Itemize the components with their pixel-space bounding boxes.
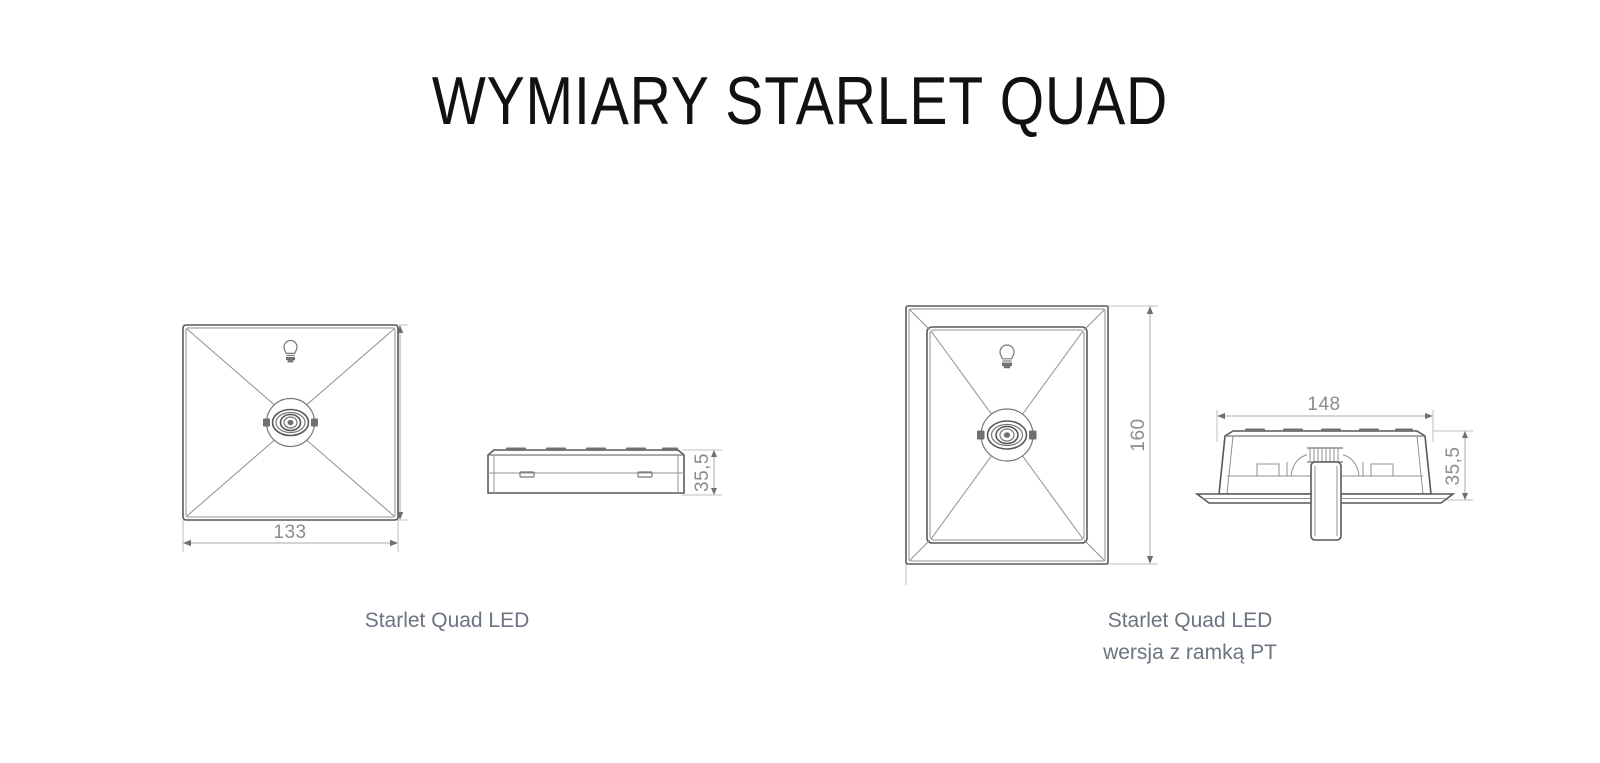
dim-arrow-top xyxy=(1462,431,1468,438)
drawing-starlet-quad-pt-top-view: 160 160 xyxy=(880,285,1180,575)
drawing-starlet-quad-pt-side-view: 148 35,5 xyxy=(1195,390,1495,565)
caption-starlet-quad-led: Starlet Quad LED xyxy=(297,605,597,637)
dimension-height-label: 35,5 xyxy=(1443,447,1464,486)
caption-starlet-quad-led-pt: Starlet Quad LED wersja z ramką PT xyxy=(1040,605,1340,669)
slide-canvas: WYMIARY STARLET QUAD 133 133 xyxy=(0,0,1600,763)
dim-arrow-left xyxy=(183,540,191,546)
dimension-height-label: 160 xyxy=(1128,418,1149,451)
dim-arrow-right xyxy=(390,540,398,546)
caption-line-2: wersja z ramką PT xyxy=(1040,637,1340,669)
dim-arrow-bottom xyxy=(1147,556,1153,564)
dim-arrow-bottom xyxy=(1462,493,1468,500)
dimension-height-label: 35,5 xyxy=(692,453,713,492)
housing-body xyxy=(488,450,684,493)
dimension-width-label: 148 xyxy=(1307,394,1340,415)
page-title: WYMIARY STARLET QUAD xyxy=(128,62,1472,140)
caption-line-1: Starlet Quad LED xyxy=(1040,605,1340,637)
spring-clip-icon xyxy=(1307,448,1343,462)
mounting-stem xyxy=(1311,462,1341,540)
dimension-width-label: 133 xyxy=(273,522,306,543)
drawing-starlet-quad-top-view: 133 133 xyxy=(150,300,440,560)
dim-arrow-top xyxy=(1147,306,1153,314)
dim-arrow-right xyxy=(1425,413,1433,419)
dim-arrow-left xyxy=(1217,413,1225,419)
drawing-starlet-quad-side-view: 35,5 xyxy=(470,425,740,540)
caption-line-1: Starlet Quad LED xyxy=(297,605,597,637)
